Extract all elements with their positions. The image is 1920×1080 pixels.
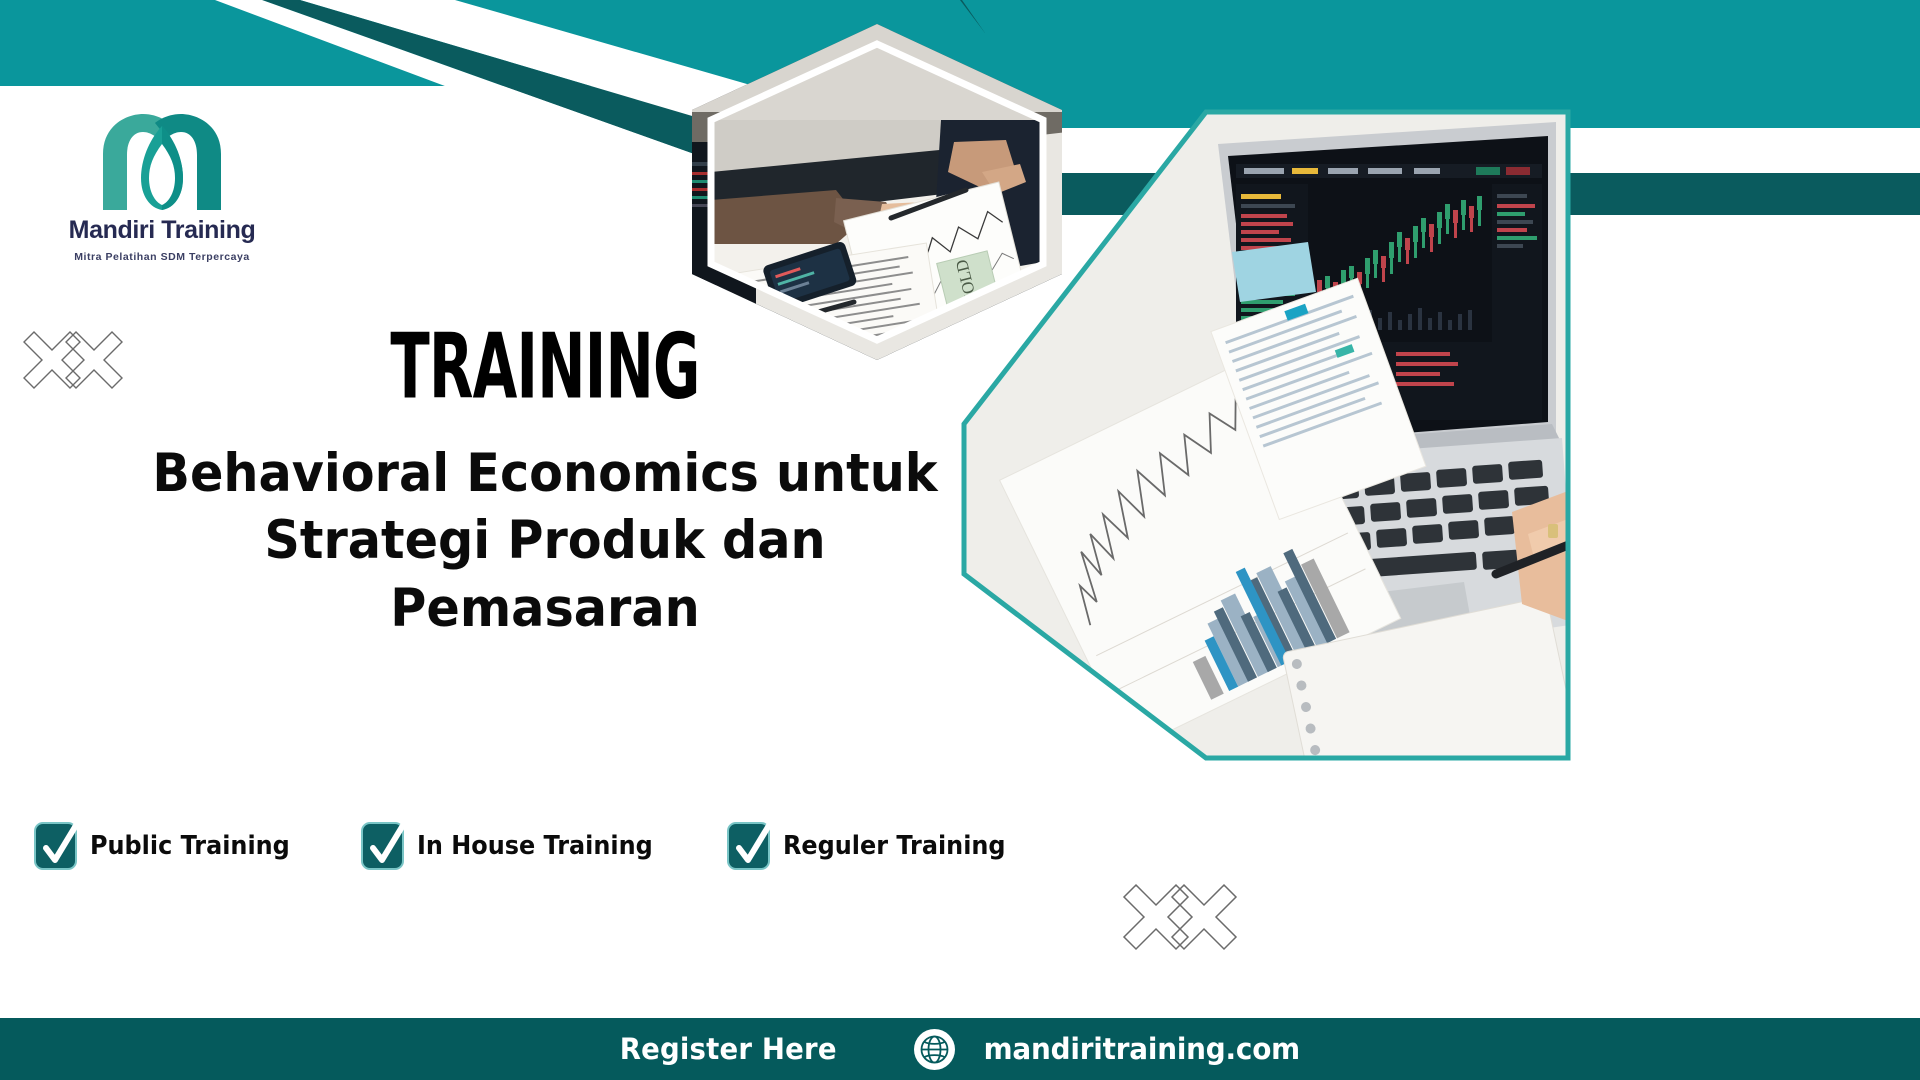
page-title: Behavioral Economics untuk Strategi Prod… (38, 440, 1052, 642)
website-group[interactable]: mandiritraining.com (914, 1029, 1307, 1070)
check-icon (727, 822, 770, 870)
decorative-cross-pair-bottom-right (1122, 880, 1240, 969)
list-item-label: Reguler Training (783, 831, 1006, 861)
brand-name: Mandiri Training (42, 216, 282, 245)
website-url[interactable]: mandiritraining.com (983, 1032, 1299, 1066)
training-type-list: Public Training In House Training Regule… (34, 822, 1025, 870)
list-item[interactable]: Reguler Training (727, 822, 1025, 870)
register-here-label[interactable]: Register Here (619, 1032, 836, 1066)
headline-area: TRAINING Behavioral Economics untuk Stra… (0, 330, 1090, 642)
eyebrow-title: TRAINING (120, 322, 970, 412)
brand-tagline: Mitra Pelatihan SDM Terpercaya (42, 251, 282, 263)
mandiri-double-loop-logo-icon (87, 108, 237, 213)
check-icon (361, 822, 404, 870)
list-item[interactable]: Public Training (34, 822, 307, 870)
list-item[interactable]: In House Training (361, 822, 673, 870)
hexagon-meeting-photo: HOLD (686, 22, 1068, 362)
brand-logo[interactable]: Mandiri Training Mitra Pelatihan SDM Ter… (42, 108, 282, 263)
footer-bar: Register Here mandiritraining.com (0, 1018, 1920, 1080)
list-item-label: Public Training (90, 831, 290, 861)
list-item-label: In House Training (417, 831, 653, 861)
globe-icon (914, 1029, 955, 1070)
check-icon (34, 822, 77, 870)
